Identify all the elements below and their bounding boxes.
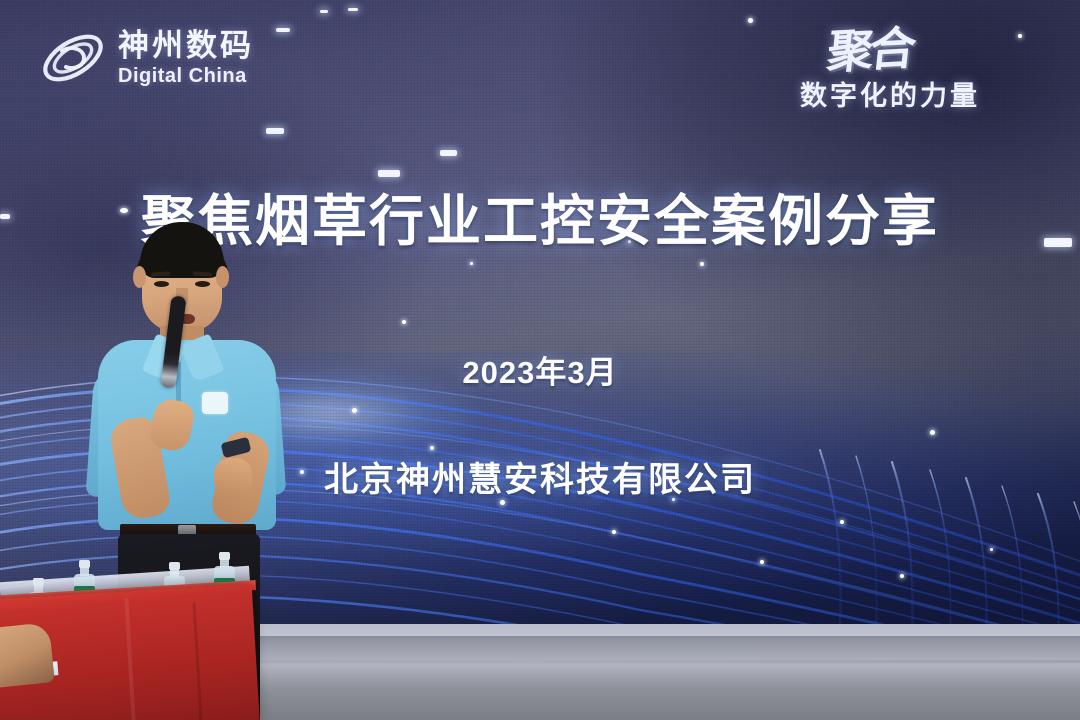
particle-dot — [402, 320, 406, 324]
particle-dot — [840, 520, 844, 524]
event-logo-calligraphy: 聚合 — [824, 12, 916, 82]
speaker-hand-right — [214, 458, 252, 498]
speaker-eye-left — [154, 281, 169, 287]
brand-name-cn: 神州数码 — [118, 30, 254, 61]
conference-stage-photo: 神州数码 Digital China 聚合 数字化的力量 聚焦烟草行业工控安全案… — [0, 0, 1080, 720]
particle-dash — [266, 128, 284, 134]
particle-dot — [352, 408, 357, 413]
digital-china-wordmark: 神州数码 Digital China — [118, 30, 254, 86]
seated-attendee — [0, 622, 55, 690]
particle-dash — [320, 10, 328, 13]
particle-dash — [440, 150, 457, 156]
particle-dot — [900, 574, 904, 578]
swirl-galaxy-logo-icon — [38, 27, 108, 89]
event-logo-tagline: 数字化的力量 — [800, 74, 980, 113]
speaker-hair-top — [140, 222, 224, 278]
particle-dash — [348, 8, 358, 11]
speaker-ear-left — [133, 266, 146, 288]
speaker-eye-right — [195, 281, 210, 287]
particle-dot — [990, 548, 993, 551]
particle-dot — [700, 262, 704, 266]
particle-dot — [748, 18, 753, 23]
brand-name-en: Digital China — [118, 66, 254, 86]
particle-dot — [760, 560, 764, 564]
speaker-shirt-logo-icon — [202, 392, 228, 414]
speaker-ear-right — [216, 266, 229, 288]
event-logo-juhe: 聚合 数字化的力量 — [788, 14, 1058, 114]
particle-dot — [930, 430, 935, 435]
digital-china-logo: 神州数码 Digital China — [38, 18, 288, 98]
particle-dot — [612, 530, 616, 534]
particle-dot — [470, 262, 473, 265]
particle-dot — [430, 446, 434, 450]
